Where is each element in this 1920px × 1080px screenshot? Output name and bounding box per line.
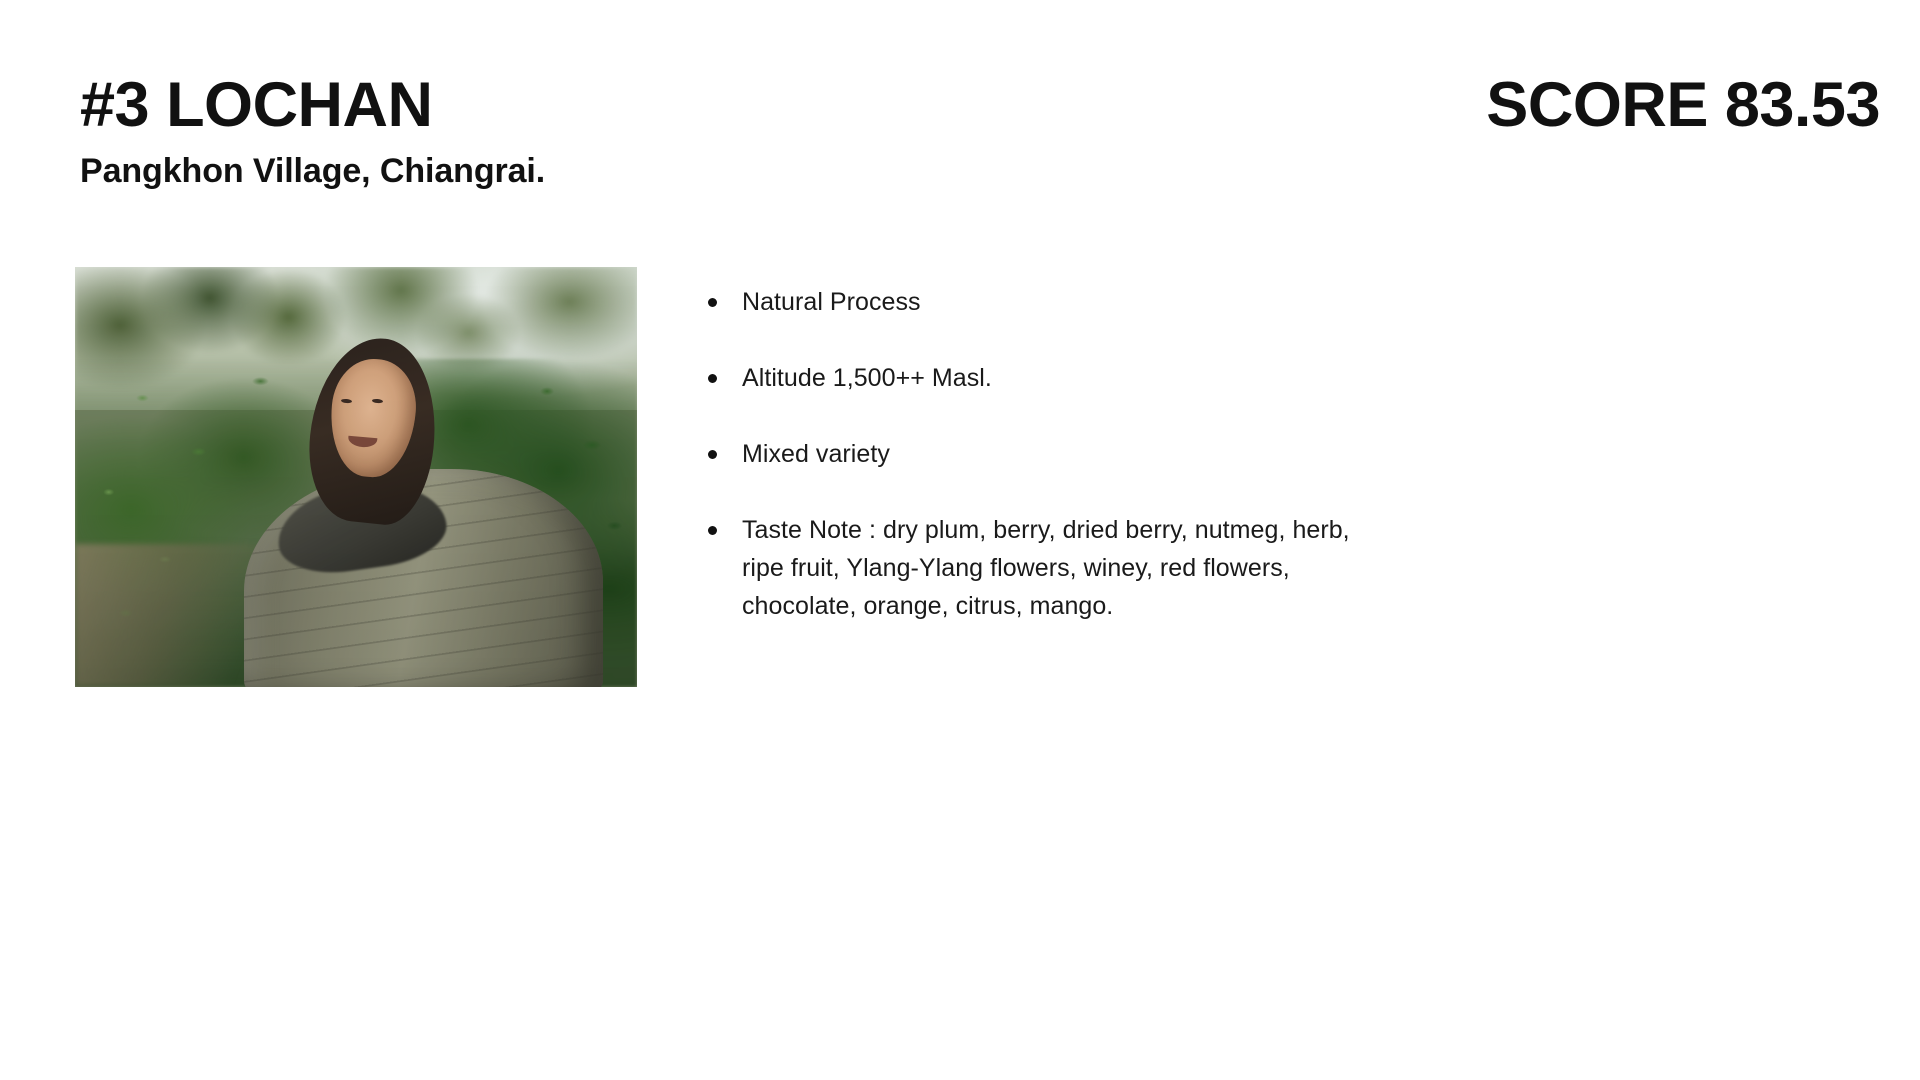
producer-photo (75, 267, 637, 687)
producer-card-page: #3 LOCHAN Pangkhon Village, Chiangrai. S… (0, 0, 1920, 1080)
photo-canvas (75, 267, 637, 687)
detail-text: Taste Note : dry plum, berry, dried berr… (742, 516, 1350, 620)
detail-text: Mixed variety (742, 440, 890, 468)
detail-text: Natural Process (742, 288, 921, 316)
bullet-icon (708, 374, 717, 383)
bullet-icon (708, 450, 717, 459)
list-item: Mixed variety (700, 435, 1380, 473)
bullet-icon (708, 526, 717, 535)
card-content: Natural Process Altitude 1,500++ Masl. M… (0, 0, 1920, 1080)
detail-text: Altitude 1,500++ Masl. (742, 364, 992, 392)
bullet-icon (708, 298, 717, 307)
list-item: Taste Note : dry plum, berry, dried berr… (700, 511, 1362, 625)
list-item: Altitude 1,500++ Masl. (700, 359, 1380, 397)
photo-color-grade (75, 267, 637, 687)
details-list: Natural Process Altitude 1,500++ Masl. M… (700, 283, 1380, 625)
list-item: Natural Process (700, 283, 1380, 321)
